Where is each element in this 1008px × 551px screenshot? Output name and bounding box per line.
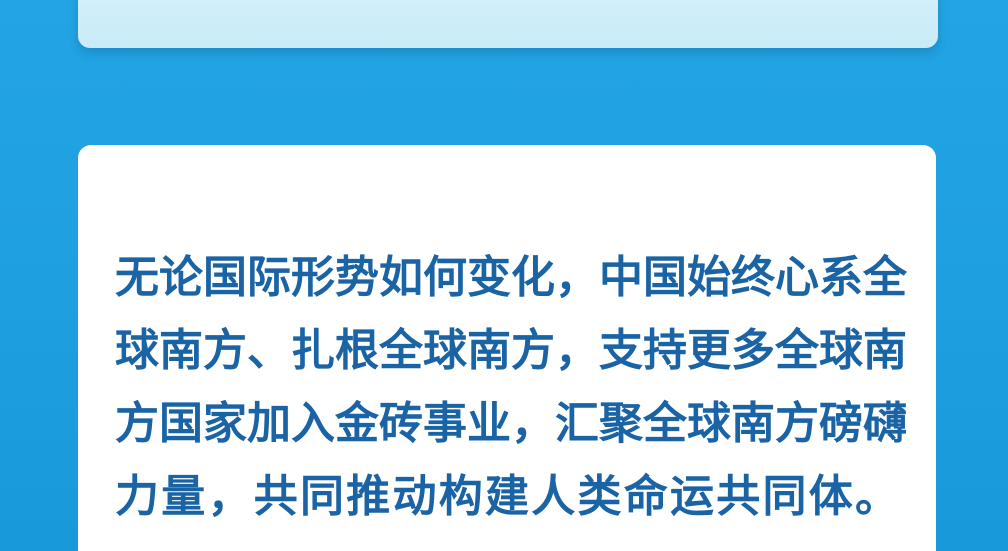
quote-char: 南 xyxy=(467,325,511,376)
quote-char: 论 xyxy=(159,252,203,303)
quote-char: 加 xyxy=(247,398,291,449)
quote-line: 无论国际形势如何变化，中国始终心系全 xyxy=(115,241,899,314)
quote-char: 建 xyxy=(485,471,531,522)
quote-char: 共 xyxy=(254,471,300,522)
quote-char: 国 xyxy=(159,398,203,449)
quote-char: 国 xyxy=(203,252,247,303)
quote-char: 球 xyxy=(819,325,863,376)
quote-char: 终 xyxy=(731,252,775,303)
quote-char: 磅 xyxy=(819,398,863,449)
quote-char: 方 xyxy=(511,325,555,376)
quote-char: ， xyxy=(208,471,254,522)
quote-char: 同 xyxy=(763,471,809,522)
quote-char: 方 xyxy=(203,325,247,376)
quote-char: 运 xyxy=(670,471,716,522)
quote-char: 共 xyxy=(716,471,762,522)
quote-char: 支 xyxy=(599,325,643,376)
quote-char: 多 xyxy=(731,325,775,376)
quote-char: 构 xyxy=(439,471,485,522)
quote-char: 南 xyxy=(863,325,907,376)
quote-char: 方 xyxy=(775,398,819,449)
quote-line-4-inner: 力量，共同推动构建人类命运共同体。 xyxy=(115,460,899,533)
quote-char: 际 xyxy=(247,252,291,303)
quote-char: 更 xyxy=(687,325,731,376)
quote-char: ， xyxy=(511,398,555,449)
quote-char: 全 xyxy=(643,398,687,449)
quote-char: 势 xyxy=(335,252,379,303)
quote-char: 南 xyxy=(731,398,775,449)
quote-char: 系 xyxy=(819,252,863,303)
top-banner-panel xyxy=(78,0,938,48)
quote-char: 人 xyxy=(531,471,577,522)
quote-char: 南 xyxy=(159,325,203,376)
quote-char: 业 xyxy=(467,398,511,449)
quote-char: 入 xyxy=(291,398,335,449)
quote-char: 家 xyxy=(203,398,247,449)
quote-char: 心 xyxy=(775,252,819,303)
quote-char: 命 xyxy=(624,471,670,522)
quote-char: 推 xyxy=(346,471,392,522)
quote-line-1-inner: 无论国际形势如何变化，中国始终心系全 xyxy=(115,241,899,314)
page-root: 无论国际形势如何变化，中国始终心系全 球南方、扎根全球南方，支持更多全球南 方国… xyxy=(0,0,1008,551)
quote-char: 始 xyxy=(687,252,731,303)
quote-char: 化 xyxy=(511,252,555,303)
quote-char: ， xyxy=(555,252,599,303)
quote-char: 变 xyxy=(467,252,511,303)
quote-char: 聚 xyxy=(599,398,643,449)
quote-char: 全 xyxy=(775,325,819,376)
quote-char: 球 xyxy=(423,325,467,376)
quote-char: 量 xyxy=(161,471,207,522)
quote-line: 球南方、扎根全球南方，支持更多全球南 xyxy=(115,314,899,387)
quote-card: 无论国际形势如何变化，中国始终心系全 球南方、扎根全球南方，支持更多全球南 方国… xyxy=(78,145,936,551)
quote-char: 方 xyxy=(115,398,159,449)
quote-char: 无 xyxy=(115,252,159,303)
quote-char: 类 xyxy=(578,471,624,522)
quote-char: 动 xyxy=(393,471,439,522)
quote-char: 形 xyxy=(291,252,335,303)
quote-char: 、 xyxy=(247,325,291,376)
quote-char: 砖 xyxy=(379,398,423,449)
quote-char: 持 xyxy=(643,325,687,376)
quote-char: 。 xyxy=(855,471,899,522)
quote-char: 礴 xyxy=(863,398,907,449)
quote-line: 力量，共同推动构建人类命运共同体。 xyxy=(115,460,899,533)
quote-char: 球 xyxy=(115,325,159,376)
quote-char: 同 xyxy=(300,471,346,522)
quote-line-2-inner: 球南方、扎根全球南方，支持更多全球南 xyxy=(115,314,899,387)
quote-line-3-inner: 方国家加入金砖事业，汇聚全球南方磅礴 xyxy=(115,387,899,460)
quote-char: 根 xyxy=(335,325,379,376)
quote-char: 何 xyxy=(423,252,467,303)
quote-char: 汇 xyxy=(555,398,599,449)
quote-char: 金 xyxy=(335,398,379,449)
quote-char: 力 xyxy=(115,471,161,522)
quote-char: 体 xyxy=(809,471,855,522)
quote-char: 全 xyxy=(379,325,423,376)
quote-char: 球 xyxy=(687,398,731,449)
quote-char: 全 xyxy=(863,252,907,303)
quote-line: 方国家加入金砖事业，汇聚全球南方磅礴 xyxy=(115,387,899,460)
quote-char: 扎 xyxy=(291,325,335,376)
quote-char: 国 xyxy=(643,252,687,303)
quote-char: 中 xyxy=(599,252,643,303)
quote-char: 事 xyxy=(423,398,467,449)
quote-char: ， xyxy=(555,325,599,376)
quote-text-block: 无论国际形势如何变化，中国始终心系全 球南方、扎根全球南方，支持更多全球南 方国… xyxy=(115,241,899,533)
quote-char: 如 xyxy=(379,252,423,303)
